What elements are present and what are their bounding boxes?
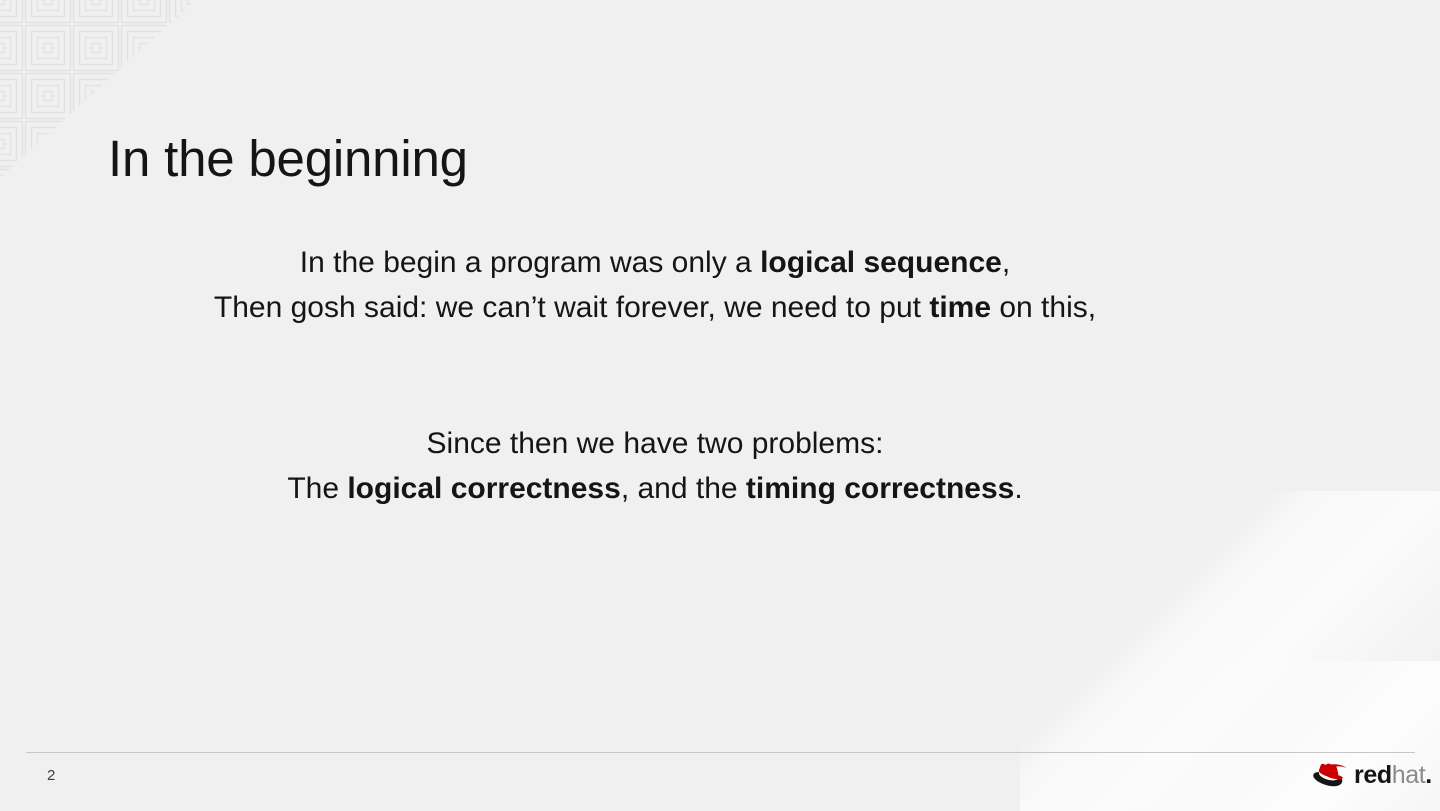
redhat-word-hat: hat bbox=[1392, 761, 1426, 789]
body-paragraph-1: In the begin a program was only a logica… bbox=[0, 240, 1310, 330]
plain-text: Then gosh said: we can’t wait forever, w… bbox=[214, 291, 929, 324]
plain-text: In the begin a program was only a bbox=[300, 246, 760, 279]
redhat-word-dot: . bbox=[1425, 761, 1432, 789]
emphasis-text: time bbox=[929, 291, 991, 324]
plain-text: The bbox=[287, 472, 347, 505]
plain-text: , bbox=[1002, 246, 1010, 279]
body-line: The logical correctness, and the timing … bbox=[0, 466, 1310, 511]
redhat-logo: redhat. bbox=[1313, 757, 1432, 791]
page-number: 2 bbox=[47, 767, 55, 784]
page-title: In the beginning bbox=[108, 131, 468, 186]
body-line: In the begin a program was only a logica… bbox=[0, 240, 1310, 285]
emphasis-text: logical sequence bbox=[760, 246, 1002, 279]
slide: In the beginning In the begin a program … bbox=[0, 0, 1440, 811]
body-line: Since then we have two problems: bbox=[0, 421, 1310, 466]
body-line: Then gosh said: we can’t wait forever, w… bbox=[0, 285, 1310, 330]
redhat-word-red: red bbox=[1354, 761, 1392, 789]
plain-text: on this, bbox=[991, 291, 1096, 324]
footer-divider bbox=[26, 752, 1415, 753]
plain-text: Since then we have two problems: bbox=[427, 427, 884, 460]
plain-text: , and the bbox=[621, 472, 746, 505]
body-paragraph-2: Since then we have two problems: The log… bbox=[0, 421, 1310, 511]
plain-text: . bbox=[1014, 472, 1022, 505]
emphasis-text: timing correctness bbox=[746, 472, 1014, 505]
redhat-shadowman-icon bbox=[1313, 761, 1347, 788]
emphasis-text: logical correctness bbox=[347, 472, 620, 505]
redhat-wordmark: redhat. bbox=[1354, 763, 1432, 788]
